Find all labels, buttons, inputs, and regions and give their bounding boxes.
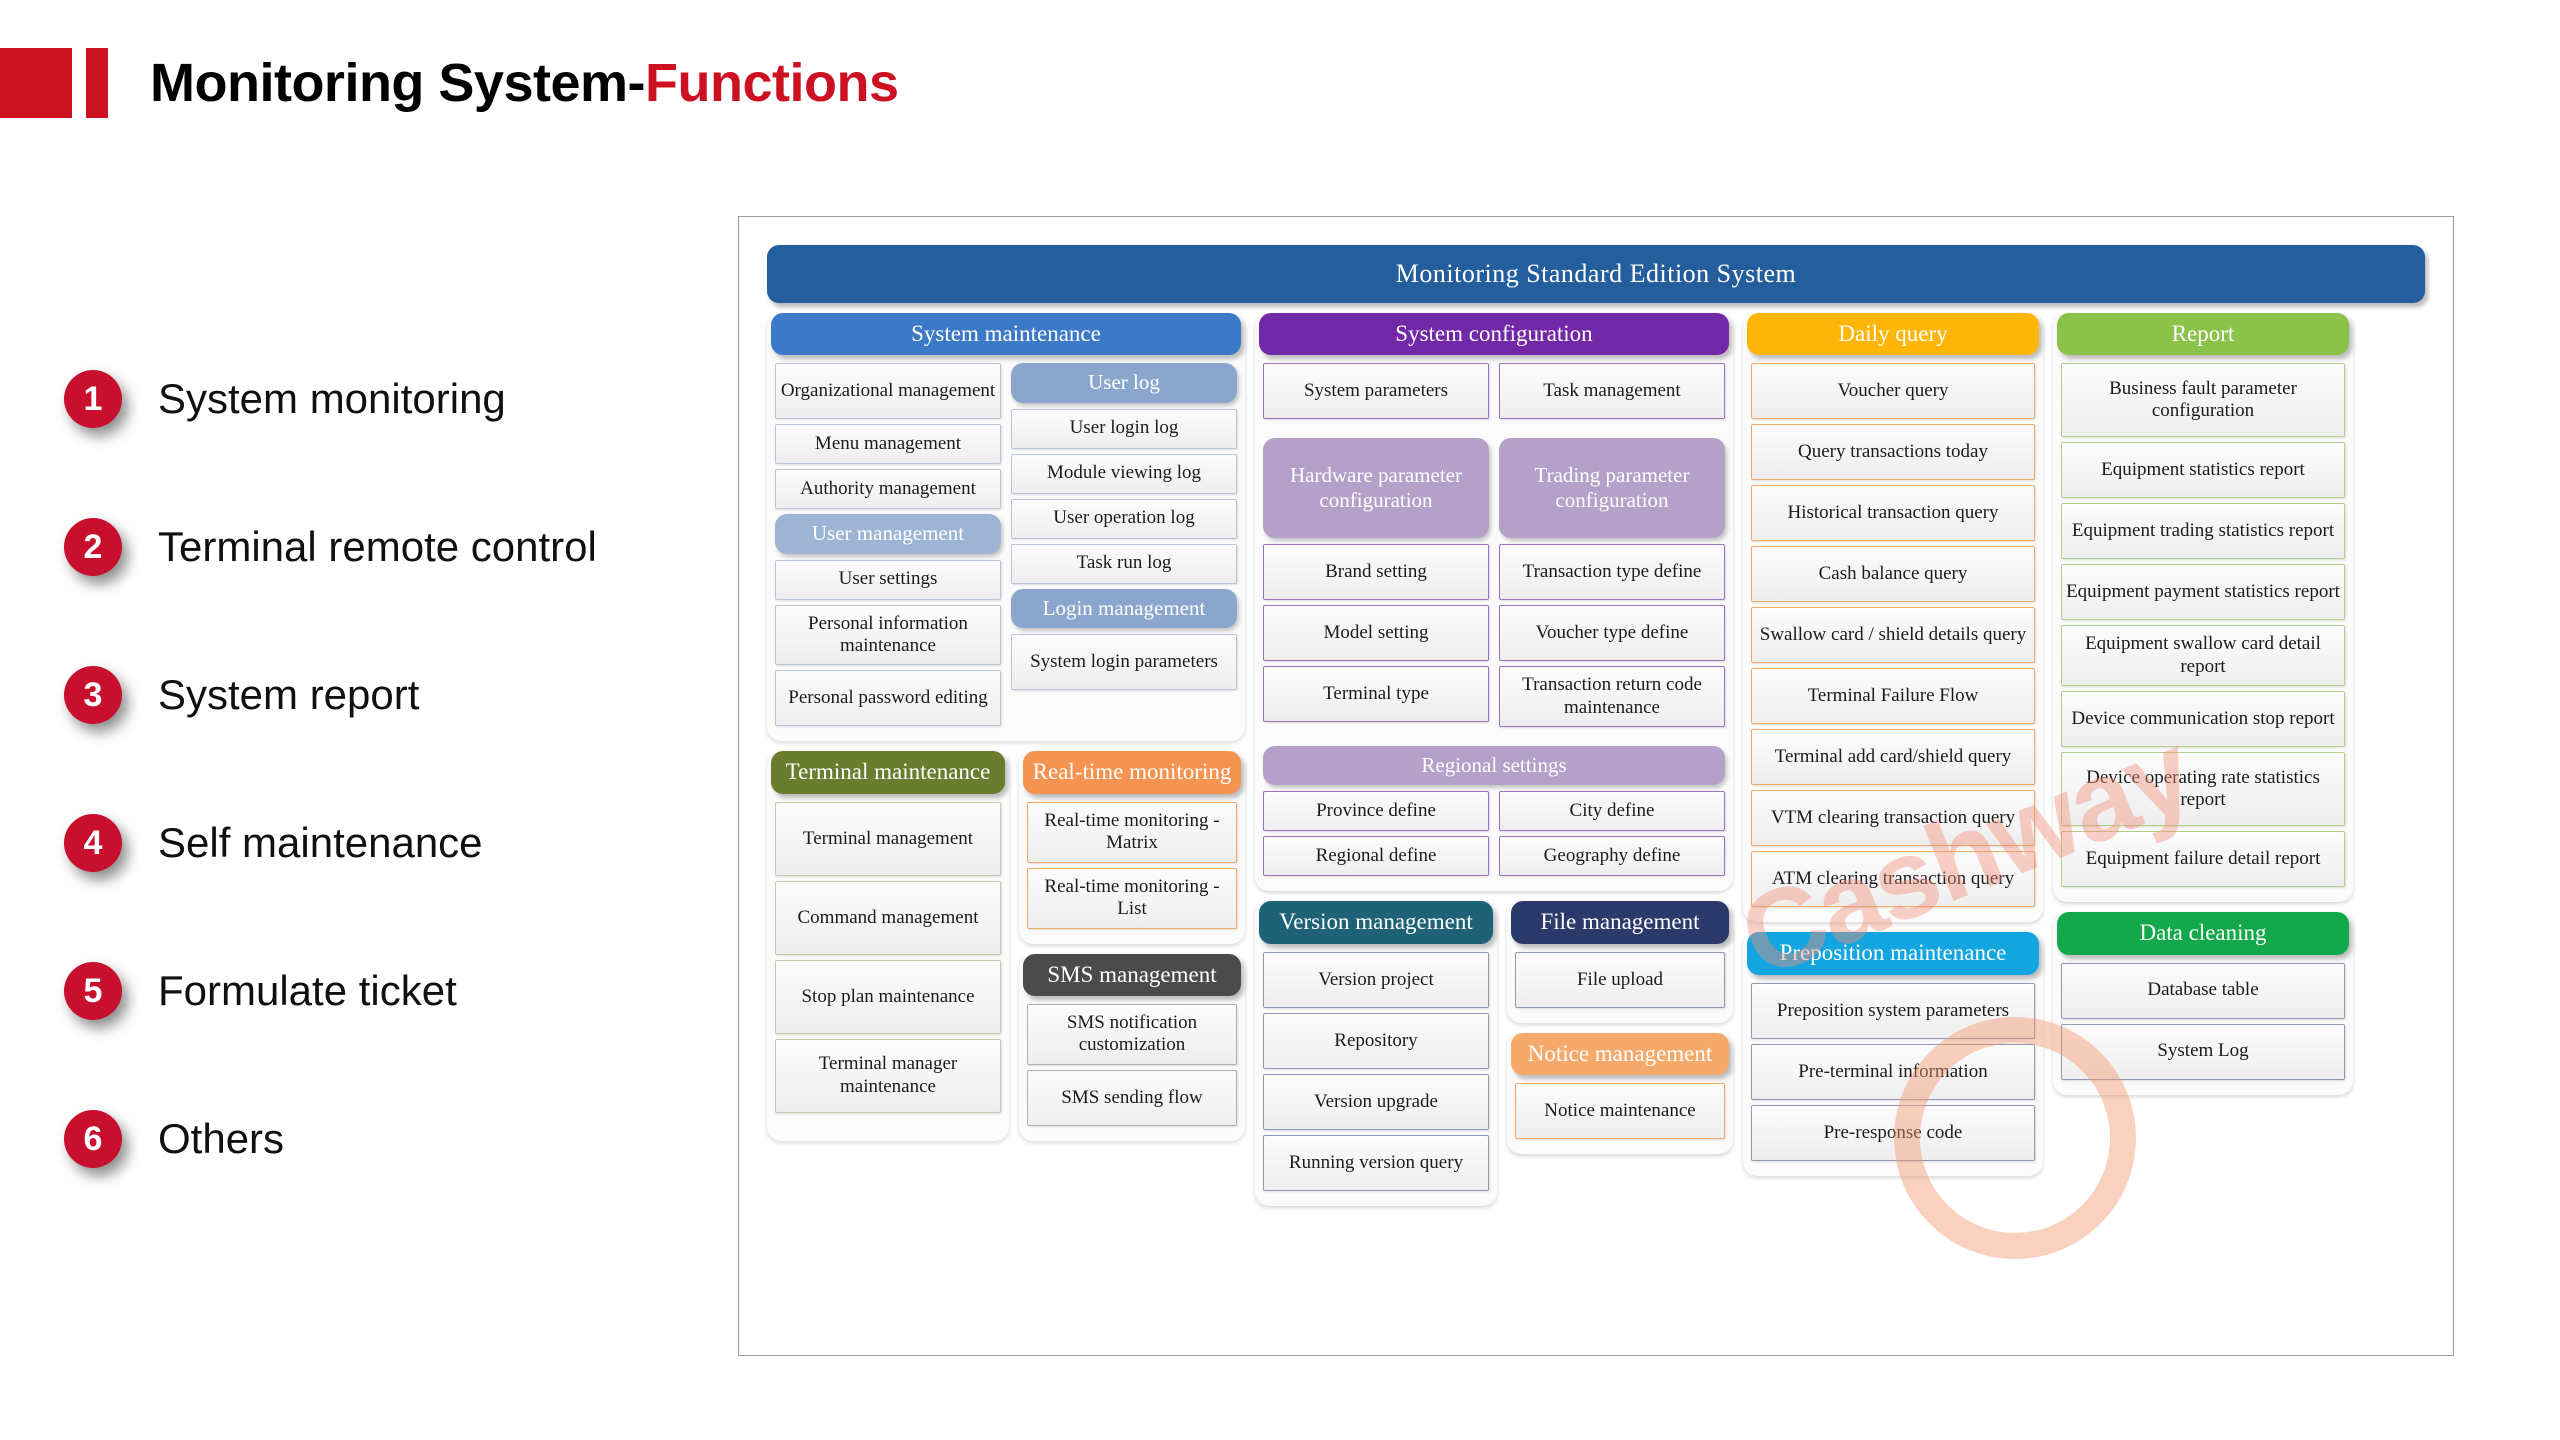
page-title-accent: Functions [645,53,898,113]
brand-square-large-icon [0,48,72,118]
leaf-terminal-manager-maintenance[interactable]: Terminal manager maintenance [775,1039,1001,1113]
header-preposition-maintenance: Preposition maintenance [1747,932,2039,974]
leaf-terminal-add-card-shield-query[interactable]: Terminal add card/shield query [1751,729,2035,785]
leaf-model-setting[interactable]: Model setting [1263,605,1489,661]
leaf-real-time-monitoring-matrix[interactable]: Real-time monitoring -Matrix [1027,802,1237,863]
leaf-swallow-card-shield-details-query[interactable]: Swallow card / shield details query [1751,607,2035,663]
header-hardware-parameter-configuration: Hardware parameter configuration [1263,438,1489,538]
page-title-main: Monitoring System- [150,53,645,113]
leaf-version-project[interactable]: Version project [1263,952,1489,1008]
leaf-repository[interactable]: Repository [1263,1013,1489,1069]
leaf-equipment-statistics-report[interactable]: Equipment statistics report [2061,442,2345,498]
leaf-equipment-failure-detail-report[interactable]: Equipment failure detail report [2061,831,2345,887]
leaf-menu-management[interactable]: Menu management [775,424,1001,464]
feature-list: 1 System monitoring 2 Terminal remote co… [40,355,680,1243]
leaf-real-time-monitoring-list[interactable]: Real-time monitoring -List [1027,868,1237,929]
leaf-system-parameters[interactable]: System parameters [1263,363,1489,419]
leaf-city-define[interactable]: City define [1499,791,1725,831]
leaf-notice-maintenance[interactable]: Notice maintenance [1515,1083,1725,1139]
header-system-maintenance: System maintenance [771,313,1241,355]
header-system-configuration: System configuration [1259,313,1729,355]
list-item-label: Terminal remote control [158,523,597,571]
sm-right-column: User log User login log Module viewing l… [1011,363,1237,731]
panel-system-configuration: System configuration System parameters T… [1255,313,1733,891]
leaf-task-management[interactable]: Task management [1499,363,1725,419]
leaf-stop-plan-maintenance[interactable]: Stop plan maintenance [775,960,1001,1034]
panel-terminal-maintenance: Terminal maintenance Terminal management… [767,751,1009,1140]
leaf-device-communication-stop-report[interactable]: Device communication stop report [2061,691,2345,747]
leaf-database-table[interactable]: Database table [2061,963,2345,1019]
panel-real-time-monitoring: Real-time monitoring Real-time monitorin… [1019,751,1245,943]
list-item: 6 Others [40,1095,680,1183]
header-login-management: Login management [1011,589,1237,628]
brand-square-small-icon [86,48,108,118]
panel-report: Report Business fault parameter configur… [2053,313,2353,902]
leaf-equipment-swallow-card-detail-report[interactable]: Equipment swallow card detail report [2061,625,2345,686]
leaf-personal-information-maintenance[interactable]: Personal information maintenance [775,605,1001,666]
header-version-management: Version management [1259,901,1493,943]
leaf-voucher-query[interactable]: Voucher query [1751,363,2035,419]
leaf-equipment-payment-statistics-report[interactable]: Equipment payment statistics report [2061,564,2345,620]
header-user-log: User log [1011,363,1237,402]
list-item-label: Formulate ticket [158,967,457,1015]
leaf-terminal-failure-flow[interactable]: Terminal Failure Flow [1751,668,2035,724]
sm-left-column: Organizational management Menu managemen… [775,363,1001,731]
panel-daily-query: Daily query Voucher query Query transact… [1743,313,2043,922]
page-title-bar: Monitoring System-Functions [0,48,899,118]
leaf-command-management[interactable]: Command management [775,881,1001,955]
list-item: 5 Formulate ticket [40,947,680,1035]
list-item: 3 System report [40,651,680,739]
list-item-number: 6 [64,1110,122,1168]
list-item-label: Others [158,1115,284,1163]
panel-preposition-maintenance: Preposition maintenance Preposition syst… [1743,932,2043,1175]
panel-notice-management: Notice management Notice maintenance [1507,1033,1733,1154]
header-regional-settings: Regional settings [1263,746,1725,785]
leaf-user-login-log[interactable]: User login log [1011,409,1237,449]
page-title: Monitoring System-Functions [150,52,899,114]
leaf-sms-sending-flow[interactable]: SMS sending flow [1027,1070,1237,1126]
list-item-label: System report [158,671,419,719]
header-notice-management: Notice management [1511,1033,1729,1075]
list-item: 2 Terminal remote control [40,503,680,591]
leaf-organizational-management[interactable]: Organizational management [775,363,1001,419]
leaf-terminal-type[interactable]: Terminal type [1263,666,1489,722]
leaf-transaction-type-define[interactable]: Transaction type define [1499,544,1725,600]
panel-data-cleaning: Data cleaning Database table System Log [2053,912,2353,1094]
leaf-sms-notification-customization[interactable]: SMS notification customization [1027,1004,1237,1065]
panel-version-management: Version management Version project Repos… [1255,901,1497,1205]
leaf-query-transactions-today[interactable]: Query transactions today [1751,424,2035,480]
leaf-voucher-type-define[interactable]: Voucher type define [1499,605,1725,661]
leaf-pre-terminal-information[interactable]: Pre-terminal information [1751,1044,2035,1100]
list-item: 4 Self maintenance [40,799,680,887]
leaf-personal-password-editing[interactable]: Personal password editing [775,670,1001,726]
header-sms-management: SMS management [1023,954,1241,996]
list-item-number: 4 [64,814,122,872]
panel-file-management: File management File upload [1507,901,1733,1022]
leaf-module-viewing-log[interactable]: Module viewing log [1011,454,1237,494]
leaf-historical-transaction-query[interactable]: Historical transaction query [1751,485,2035,541]
leaf-pre-response-code[interactable]: Pre-response code [1751,1105,2035,1161]
header-daily-query: Daily query [1747,313,2039,355]
leaf-file-upload[interactable]: File upload [1515,952,1725,1008]
leaf-equipment-trading-statistics-report[interactable]: Equipment trading statistics report [2061,503,2345,559]
leaf-system-log[interactable]: System Log [2061,1024,2345,1080]
leaf-regional-define[interactable]: Regional define [1263,836,1489,876]
list-item-number: 5 [64,962,122,1020]
leaf-cash-balance-query[interactable]: Cash balance query [1751,546,2035,602]
leaf-transaction-return-code-maintenance[interactable]: Transaction return code maintenance [1499,666,1725,727]
header-trading-parameter-configuration: Trading parameter configuration [1499,438,1725,538]
header-data-cleaning: Data cleaning [2057,912,2349,954]
leaf-geography-define[interactable]: Geography define [1499,836,1725,876]
list-item: 1 System monitoring [40,355,680,443]
leaf-authority-management[interactable]: Authority management [775,469,1001,509]
leaf-user-settings[interactable]: User settings [775,560,1001,600]
header-file-management: File management [1511,901,1729,943]
header-user-management: User management [775,514,1001,553]
leaf-business-fault-parameter-configuration[interactable]: Business fault parameter configuration [2061,363,2345,437]
list-item-number: 3 [64,666,122,724]
list-item-label: Self maintenance [158,819,483,867]
leaf-version-upgrade[interactable]: Version upgrade [1263,1074,1489,1130]
diagram-root-title: Monitoring Standard Edition System [767,245,2425,303]
leaf-user-operation-log[interactable]: User operation log [1011,499,1237,539]
leaf-system-login-parameters[interactable]: System login parameters [1011,634,1237,690]
functions-diagram: Monitoring Standard Edition System Syste… [738,216,2454,1356]
leaf-vtm-clearing-transaction-query[interactable]: VTM clearing transaction query [1751,790,2035,846]
header-terminal-maintenance: Terminal maintenance [771,751,1005,793]
list-item-number: 2 [64,518,122,576]
panel-system-maintenance: System maintenance Organizational manage… [767,313,1245,741]
leaf-atm-clearing-transaction-query[interactable]: ATM clearing transaction query [1751,851,2035,907]
leaf-task-run-log[interactable]: Task run log [1011,544,1237,584]
leaf-running-version-query[interactable]: Running version query [1263,1135,1489,1191]
leaf-device-operating-rate-statistics-report[interactable]: Device operating rate statistics report [2061,752,2345,826]
panel-sms-management: SMS management SMS notification customiz… [1019,954,1245,1141]
leaf-preposition-system-parameters[interactable]: Preposition system parameters [1751,983,2035,1039]
header-real-time-monitoring: Real-time monitoring [1023,751,1241,793]
leaf-brand-setting[interactable]: Brand setting [1263,544,1489,600]
leaf-province-define[interactable]: Province define [1263,791,1489,831]
list-item-label: System monitoring [158,375,506,423]
leaf-terminal-management[interactable]: Terminal management [775,802,1001,876]
header-report: Report [2057,313,2349,355]
list-item-number: 1 [64,370,122,428]
